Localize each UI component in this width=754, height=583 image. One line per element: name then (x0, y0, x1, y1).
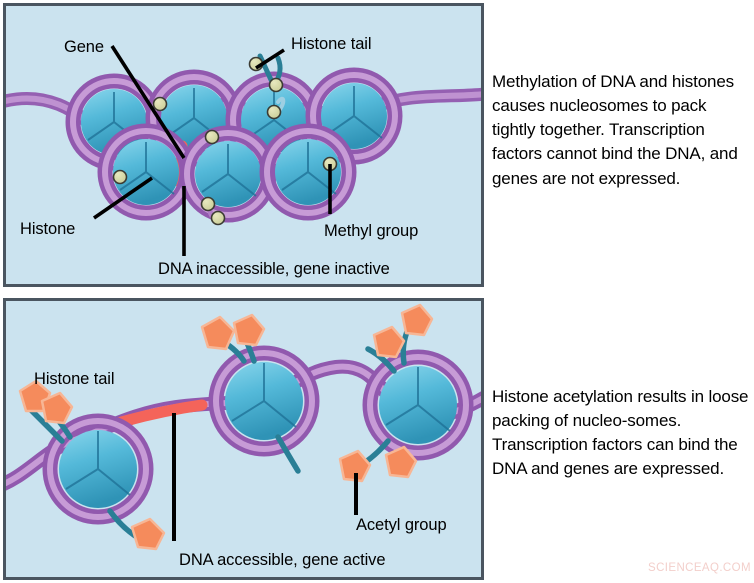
methyl-group (206, 131, 219, 144)
label-histone: Histone (20, 219, 75, 240)
acetylation-panel: Histone tail Acetyl group DNA accessible… (3, 298, 484, 580)
epigenetics-figure: Gene Histone tail Histone Methyl group D… (0, 0, 754, 583)
gene-segment (118, 405, 202, 423)
methylation-panel: Gene Histone tail Histone Methyl group D… (3, 3, 484, 287)
label-histone-tail: Histone tail (291, 34, 371, 55)
acetyl-group (374, 327, 404, 357)
acetyl-group (202, 317, 234, 349)
methyl-group (154, 98, 167, 111)
label-histone-tail: Histone tail (34, 369, 114, 390)
label-methyl-group: Methyl group (324, 221, 418, 242)
nucleosome-group-lower (105, 131, 349, 215)
acetylation-description: Histone acetylation results in loose pac… (492, 385, 754, 482)
acetyl-group (132, 519, 164, 549)
methylation-description: Methylation of DNA and histones causes n… (492, 70, 754, 191)
acetyl-group (402, 305, 432, 335)
caption-dna-accessible: DNA accessible, gene active (179, 550, 385, 571)
methyl-group (270, 79, 283, 92)
label-acetyl-group: Acetyl group (356, 515, 447, 536)
nucleosome (50, 421, 146, 517)
nucleosome (216, 353, 312, 449)
nucleosome (370, 357, 466, 453)
methyl-group (268, 106, 281, 119)
watermark: SCIENCEAQ.COM (648, 562, 751, 574)
methyl-group (114, 171, 127, 184)
nucleosome (187, 133, 269, 215)
methyl-group (212, 212, 225, 225)
caption-dna-inaccessible: DNA inaccessible, gene inactive (158, 259, 390, 280)
nucleosome (267, 131, 349, 213)
methyl-group (202, 198, 215, 211)
acetyl-group (234, 315, 264, 345)
label-gene: Gene (64, 37, 104, 58)
